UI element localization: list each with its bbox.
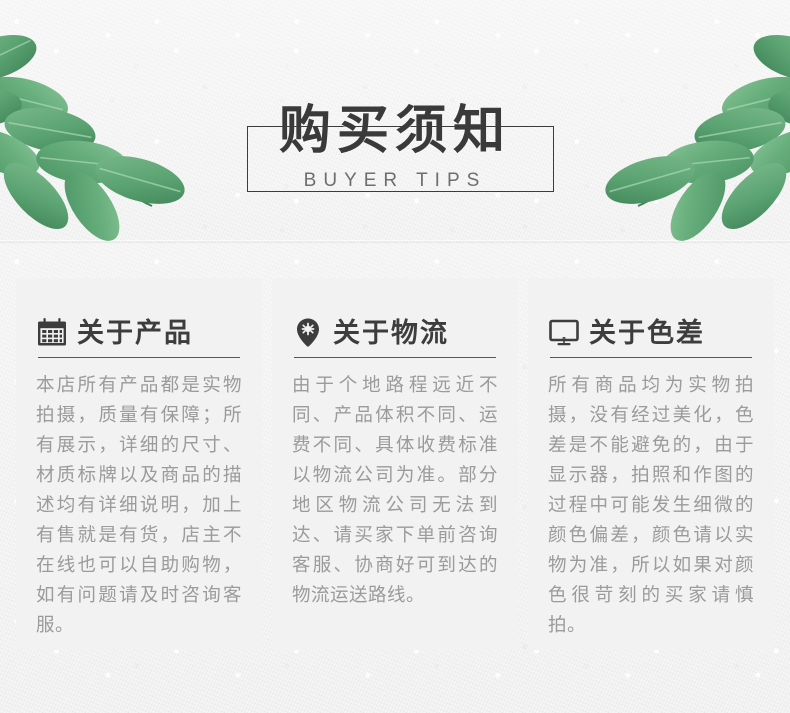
card-header: 关于物流 [292,304,498,348]
card-divider [38,357,240,358]
page-title: 购买须知 [279,105,511,157]
page-title-block: 购买须知 BUYER TIPS [0,86,790,202]
tips-card-logistics: 关于物流 由于个地路程远近不同、产品体积不同、运费不同、具体收费标准以物流公司为… [272,278,518,650]
buyer-tips-page: 购买须知 BUYER TIPS [0,0,790,713]
card-header: 关于产品 [36,304,242,348]
page-subtitle: BUYER TIPS [0,170,790,192]
tips-card-row: 关于产品 本店所有产品都是实物拍摄，质量有保障；所有展示，详细的尺寸、材质标牌以… [16,278,774,650]
monitor-icon [548,316,580,348]
card-body-text: 本店所有产品都是实物拍摄，质量有保障；所有展示，详细的尺寸、材质标牌以及商品的描… [36,370,242,640]
card-body-text: 由于个地路程远近不同、产品体积不同、运费不同、具体收费标准以物流公司为准。部分地… [292,370,498,610]
tips-card-product: 关于产品 本店所有产品都是实物拍摄，质量有保障；所有展示，详细的尺寸、材质标牌以… [16,278,262,650]
card-title: 关于产品 [77,320,193,348]
tips-card-color: 关于色差 所有商品均为实物拍摄，没有经过美化，色差是不能避免的，由于显示器，拍照… [528,278,774,650]
card-header: 关于色差 [548,304,754,348]
map-pin-icon [292,316,324,348]
card-divider [550,357,752,358]
background-band-seam [0,240,790,243]
card-title: 关于物流 [333,320,449,348]
calendar-icon [36,316,68,348]
card-title: 关于色差 [589,320,705,348]
card-divider [294,357,496,358]
card-body-text: 所有商品均为实物拍摄，没有经过美化，色差是不能避免的，由于显示器，拍照和作图的过… [548,370,754,640]
